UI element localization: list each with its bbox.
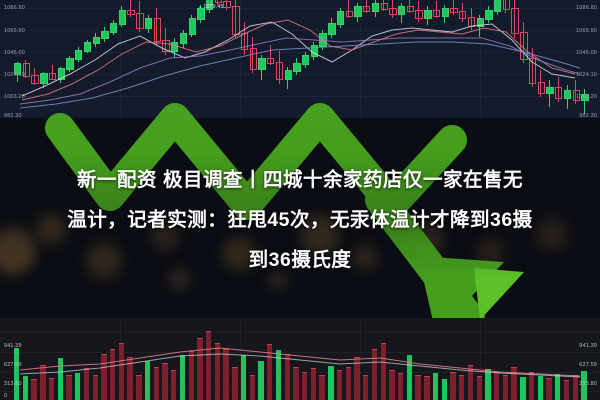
axis-tick-label: 627.59 [579, 363, 597, 368]
volume-chart-panel[interactable] [0, 318, 600, 400]
headline-line-2: 温计，记者实测：狂甩45次，无汞体温计才降到36摄 [0, 200, 600, 240]
headline-line-3: 到36摄氏度 [0, 240, 600, 280]
axis-tick-label: 313.80 [4, 382, 22, 387]
axis-tick-label: 1045.00 [576, 51, 597, 56]
axis-tick-label: 1024.10 [576, 73, 597, 78]
axis-tick-label: 941.39 [4, 344, 22, 349]
headline-line-1: 新一配资 极目调查丨四城十余家药店仅一家在售无 [0, 160, 600, 200]
axis-tick-label: 1003.20 [4, 95, 25, 100]
axis-tick-label: 941.39 [579, 344, 597, 349]
axis-tick-label: 313.80 [579, 382, 597, 387]
axis-tick-label: 1024.10 [4, 73, 25, 78]
axis-tick-label: 1045.00 [4, 51, 25, 56]
moving-average-lines [0, 0, 600, 118]
headline-overlay: 新一配资 极目调查丨四城十余家药店仅一家在售无 温计，记者实测：狂甩45次，无汞… [0, 160, 600, 280]
axis-tick-label: 1065.90 [4, 29, 25, 34]
axis-tick-label: 627.59 [4, 363, 22, 368]
volume-ma-lines [0, 318, 600, 400]
price-chart-panel[interactable]: ←1079.45 [0, 0, 600, 118]
axis-tick-label: 1065.90 [576, 29, 597, 34]
screenshot-root: ←1079.45 1086.801065.901045.001024.10100… [0, 0, 600, 400]
price-annotation-high: ←1079.45 [198, 4, 224, 10]
axis-tick-label: 0 [4, 394, 7, 399]
axis-tick-label: 1003.20 [576, 95, 597, 100]
axis-tick-label: 1086.80 [576, 6, 597, 11]
axis-tick-label: 1086.80 [4, 6, 25, 11]
